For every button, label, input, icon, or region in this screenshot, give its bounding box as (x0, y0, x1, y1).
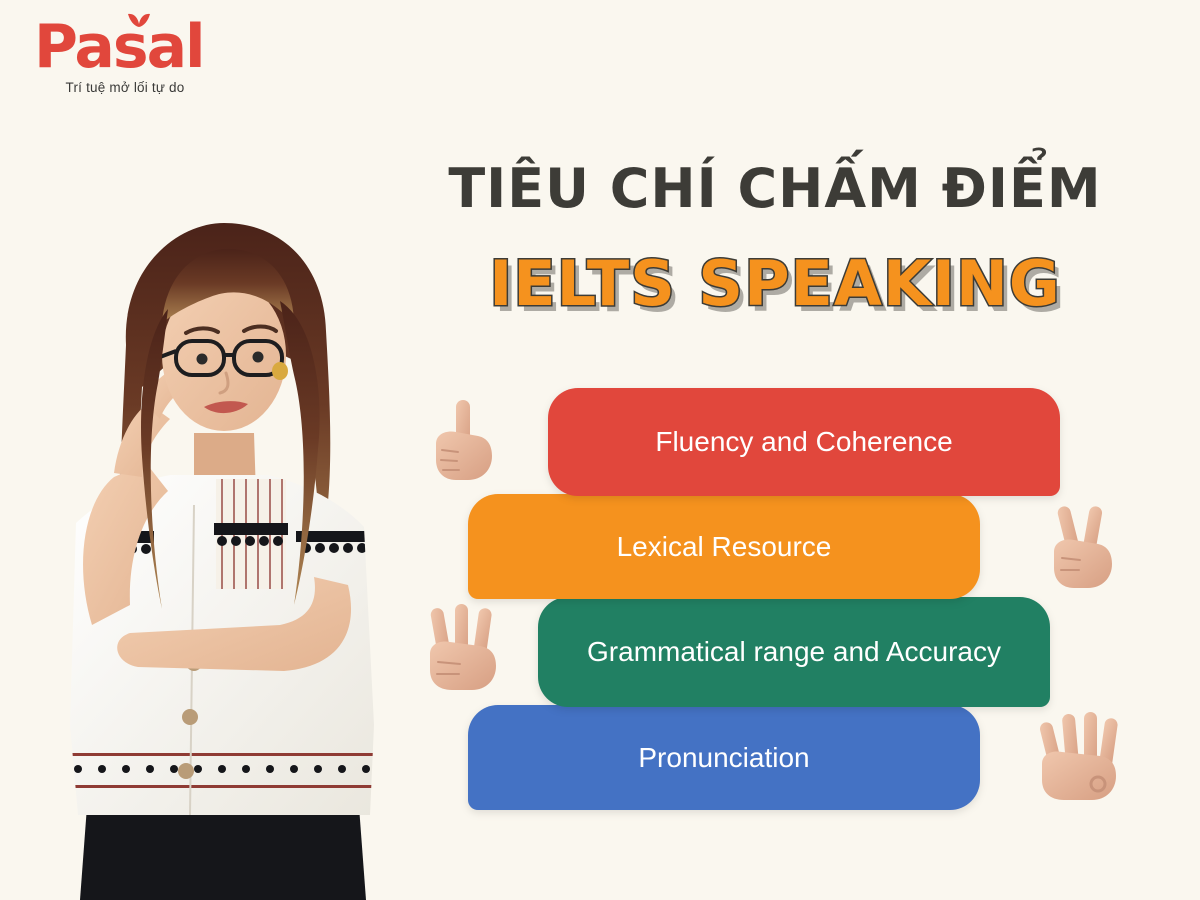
criterion-bar-lexical[interactable]: Lexical Resource (468, 494, 980, 599)
criterion-label: Fluency and Coherence (655, 425, 952, 459)
brand-tagline: Trí tuệ mở lối tự do (30, 80, 220, 95)
face (160, 249, 294, 431)
infographic-poster: Pasal Trí tuệ mở lối tự do TIÊU CHÍ CHẤM… (0, 0, 1200, 900)
earring (272, 362, 288, 380)
criterion-label: Pronunciation (638, 741, 809, 775)
brand-logo: Pasal Trí tuệ mở lối tự do (30, 16, 220, 95)
logo-text: Pasal (34, 12, 204, 82)
criterion-label: Lexical Resource (617, 530, 832, 564)
criterion-label: Grammatical range and Accuracy (587, 635, 1001, 669)
victory-two-fingers-hand-icon (1046, 500, 1118, 592)
apple-leaf-icon (126, 12, 152, 28)
criterion-bar-pronunciation[interactable]: Pronunciation (468, 705, 980, 810)
criterion-bar-fluency[interactable]: Fluency and Coherence (548, 388, 1060, 496)
logo-wordmark: Pasal (30, 16, 220, 78)
presenter-photo (18, 205, 408, 900)
three-fingers-hand-icon (424, 600, 502, 694)
index-pointing-up-hand-icon (428, 396, 498, 486)
page-subtitle: IELTS SPEAKING (430, 245, 1120, 323)
four-fingers-hand-icon (1036, 708, 1122, 804)
page-title: TIÊU CHÍ CHẤM ĐIỂM (430, 158, 1120, 220)
criterion-bar-grammar[interactable]: Grammatical range and Accuracy (538, 597, 1050, 707)
